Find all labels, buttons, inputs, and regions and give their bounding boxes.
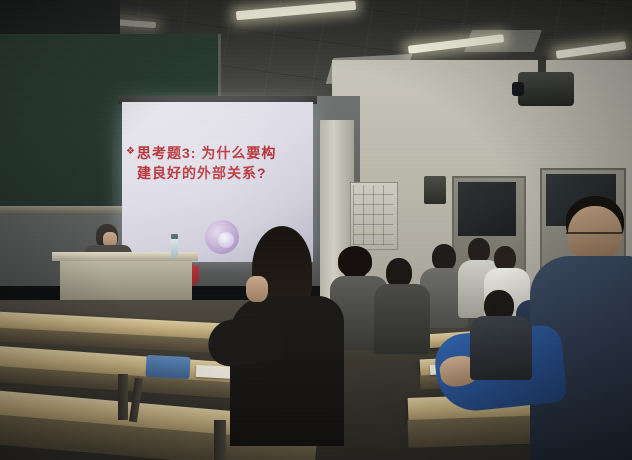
student-body (374, 284, 430, 354)
projector-lens-icon (512, 82, 524, 96)
projector (518, 72, 574, 106)
student-body (470, 316, 532, 380)
desk-leg (214, 420, 226, 460)
blue-bag (145, 355, 190, 379)
door-window (458, 182, 516, 236)
classroom-photo: ❖ 思考题3: 为什么要构 建良好的外部关系? (0, 0, 632, 460)
wall-speaker (424, 176, 446, 204)
slide-bullet-icon: ❖ (126, 146, 134, 154)
water-bottle (171, 238, 178, 258)
student-hair (338, 246, 372, 276)
water-bottle-cap (171, 234, 178, 239)
student-head (432, 244, 456, 271)
slide-text-line-2: 建良好的外部关系? (137, 163, 267, 183)
notice-board-grid (353, 185, 393, 245)
slide-text-line-1: 思考题3: 为什么要构 (137, 143, 276, 163)
slide-decoration-orb-small (218, 232, 234, 248)
eyeglasses-icon (566, 232, 622, 238)
desk-leg (118, 374, 128, 420)
student-hand (246, 276, 268, 302)
